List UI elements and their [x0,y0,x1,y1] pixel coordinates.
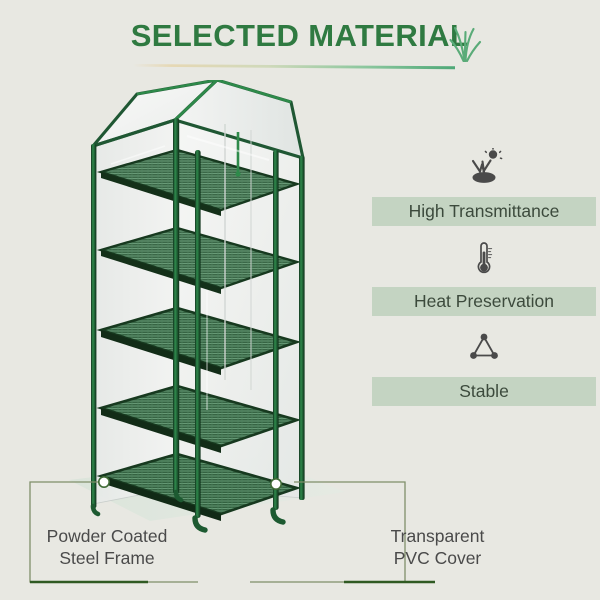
title-block: SELECTED MATERIAL [0,18,600,80]
callout-transparent-pvc-cover: Transparent PVC Cover [330,440,595,595]
feature-item-high-transmittance: High Transmittance [372,148,596,226]
sun-transmittance-icon [461,148,507,190]
feature-item-stable: Stable [372,328,596,406]
callout-marker-dot [99,477,109,487]
grass-icon [447,24,483,62]
feature-label-stable: Stable [372,377,596,406]
feature-label-high-transmittance: High Transmittance [372,197,596,226]
callout-right-marker [268,476,284,492]
triangle-stability-icon [461,328,507,370]
feature-item-heat-preservation: Heat Preservation [372,238,596,316]
feature-label-heat-preservation: Heat Preservation [372,287,596,316]
infographic-page: SELECTED MATERIAL [0,0,600,600]
feature-list: High Transmittance Heat Preservation [372,148,596,418]
title-underline [133,62,455,71]
callout-right-leader-line [330,440,595,595]
callout-right-label: Transparent PVC Cover [350,525,525,569]
thermometer-icon [461,238,507,280]
callout-powder-coated-steel-frame: Powder Coated Steel Frame [8,470,208,595]
page-title: SELECTED MATERIAL [0,18,600,54]
callout-marker-dot [271,479,281,489]
callout-left-label: Powder Coated Steel Frame [8,525,206,569]
